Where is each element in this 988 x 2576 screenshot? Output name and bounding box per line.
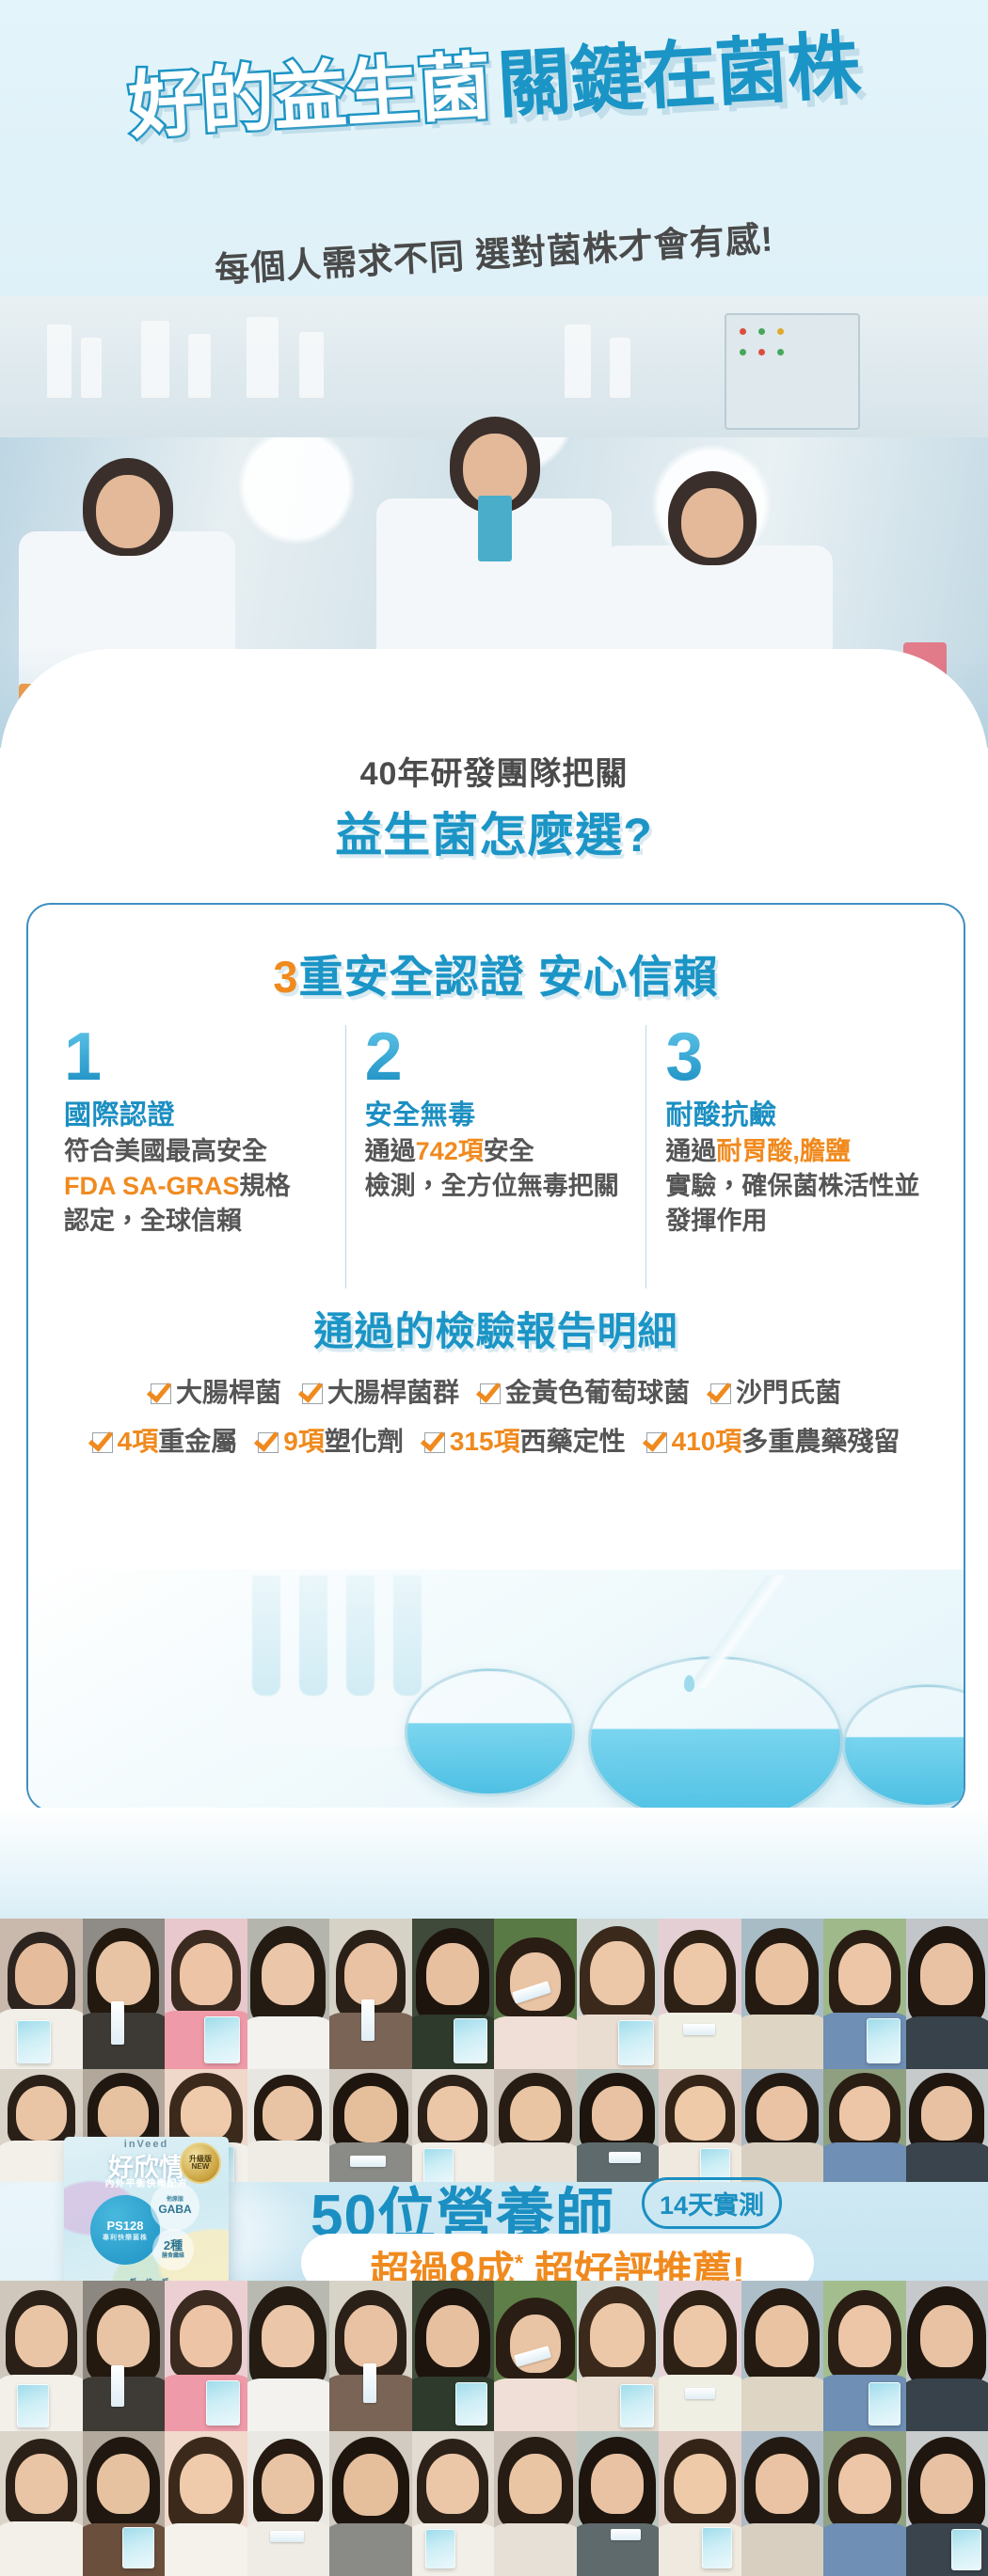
testimonial-photo-row bbox=[0, 2431, 988, 2576]
checklist-label: 金黃色葡萄球菌 bbox=[505, 1377, 690, 1409]
checklist-item: 4項重金屬 bbox=[92, 1426, 238, 1458]
checklist-row: 4項重金屬 9項塑化劑 315項西藥定性 410項多重農藥殘留 bbox=[28, 1426, 964, 1458]
bubble-main: GABA bbox=[158, 2204, 191, 2217]
column-body: 符合美國最高安全 FDA SA-GRAS規格 認定，全球信賴 bbox=[64, 1134, 332, 1238]
testimonial-photo bbox=[0, 2431, 83, 2576]
checklist-item: 大腸桿菌群 bbox=[302, 1377, 459, 1409]
column-number: 2 bbox=[365, 1025, 633, 1089]
section-kicker: 40年研發團隊把關 bbox=[0, 748, 988, 794]
section-title: 益生菌怎麼選? bbox=[0, 798, 988, 865]
checklist-label: 沙門氏菌 bbox=[736, 1377, 841, 1409]
testimonial-photo bbox=[247, 2281, 330, 2431]
certification-column-2: 2 安全無毒 通過742項安全 檢測，全方位無毒把關 bbox=[345, 1025, 646, 1288]
certification-columns: 1 國際認證 符合美國最高安全 FDA SA-GRAS規格 認定，全球信賴 2 … bbox=[45, 1025, 947, 1288]
certification-card: 3重安全認證 安心信賴 1 國際認證 符合美國最高安全 FDA SA-GRAS規… bbox=[26, 903, 965, 1811]
testimonial-photo bbox=[494, 2281, 577, 2431]
column-title: 耐酸抗鹼 bbox=[665, 1093, 933, 1132]
check-icon bbox=[646, 1432, 667, 1453]
testimonial-photo bbox=[412, 2281, 495, 2431]
checklist-label: 大腸桿菌群 bbox=[327, 1377, 459, 1409]
testimonial-photo bbox=[823, 2069, 906, 2182]
column-number: 3 bbox=[665, 1025, 933, 1089]
testimonial-photo bbox=[165, 1919, 247, 2069]
checklist-item: 沙門氏菌 bbox=[710, 1377, 841, 1409]
checklist-item: 315項西藥定性 bbox=[424, 1426, 626, 1458]
testimonial-photo bbox=[165, 2281, 247, 2431]
hero-title-part-blue: 關鍵在菌株 bbox=[496, 24, 862, 126]
14-day-pill: 14天實測 bbox=[642, 2177, 782, 2229]
column-body-post: 檢測，全方位無毒把關 bbox=[365, 1172, 619, 1200]
checklist-label: 315項西藥定性 bbox=[450, 1426, 626, 1458]
column-body-highlight: FDA SA-GRAS bbox=[64, 1172, 240, 1200]
testimonial-photo bbox=[741, 1919, 824, 2069]
check-icon bbox=[710, 1383, 731, 1404]
testimonial-photo-row bbox=[0, 2281, 988, 2431]
badge-line-2: NEW bbox=[192, 2163, 210, 2171]
testimonial-photo bbox=[0, 2281, 83, 2431]
testimonial-photo bbox=[494, 1919, 577, 2069]
testimonial-photo bbox=[659, 2069, 741, 2182]
strain-name: PS128 bbox=[106, 2219, 143, 2233]
column-body-highlight: 742項 bbox=[416, 1137, 484, 1165]
checklist-label: 大腸桿菌 bbox=[176, 1377, 281, 1409]
column-number: 1 bbox=[64, 1025, 332, 1089]
column-body: 通過耐胃酸,膽鹽 實驗，確保菌株活性並發揮作用 bbox=[665, 1134, 933, 1238]
landing-page: 好的益生菌關鍵在菌株 每個人需求不同 選對菌株才會有感! bbox=[0, 0, 988, 2576]
card-heading-number: 3 bbox=[273, 952, 298, 1002]
column-body-mid: 安全 bbox=[484, 1137, 534, 1165]
hero-subtitle: 每個人需求不同 選對菌株才會有感! bbox=[0, 198, 988, 305]
testimonial-photo bbox=[823, 1919, 906, 2069]
checklist-item: 9項塑化劑 bbox=[258, 1426, 404, 1458]
hero-section: 好的益生菌關鍵在菌株 每個人需求不同 選對菌株才會有感! bbox=[0, 0, 988, 310]
testimonial-photo bbox=[329, 1919, 412, 2069]
testimonial-photo bbox=[494, 2431, 577, 2576]
testimonial-photo bbox=[577, 1919, 660, 2069]
petri-dish-small bbox=[405, 1668, 575, 1796]
testimonial-photo bbox=[247, 2431, 330, 2576]
testimonial-photo bbox=[659, 2281, 741, 2431]
testimonial-photo bbox=[412, 1919, 495, 2069]
claim-star: * bbox=[515, 2251, 523, 2276]
hero-title: 好的益生菌關鍵在菌株 bbox=[0, 22, 988, 150]
check-icon bbox=[480, 1383, 501, 1404]
check-icon bbox=[92, 1432, 113, 1453]
ingredient-bubble-fiber: 2種 膳食纖維 bbox=[152, 2229, 194, 2270]
section-divider bbox=[0, 1808, 988, 1919]
pipette-icon bbox=[677, 1575, 796, 1688]
checklist-item: 金黃色葡萄球菌 bbox=[480, 1377, 690, 1409]
checklist-label: 4項重金屬 bbox=[118, 1426, 238, 1458]
checklist-label: 410項多重農藥殘留 bbox=[672, 1426, 900, 1458]
certification-column-3: 3 耐酸抗鹼 通過耐胃酸,膽鹽 實驗，確保菌株活性並發揮作用 bbox=[645, 1025, 947, 1288]
check-icon bbox=[424, 1432, 445, 1453]
testimonial-photo bbox=[83, 2431, 166, 2576]
check-icon bbox=[258, 1432, 279, 1453]
testimonial-photo bbox=[412, 2431, 495, 2576]
column-body: 通過742項安全 檢測，全方位無毒把關 bbox=[365, 1134, 633, 1203]
column-body-highlight: 耐胃酸,膽鹽 bbox=[716, 1137, 851, 1165]
droplet-icon bbox=[684, 1675, 694, 1692]
check-icon bbox=[151, 1383, 171, 1404]
testimonial-photo bbox=[165, 2431, 247, 2576]
petri-dish-photo bbox=[28, 1570, 964, 1810]
column-title: 國際認證 bbox=[64, 1093, 332, 1132]
testimonial-photo bbox=[659, 2431, 741, 2576]
column-body-pre: 通過 bbox=[365, 1137, 416, 1165]
strain-sub: 專利快樂菌株 bbox=[103, 2233, 148, 2242]
testimonial-photo-row bbox=[0, 1919, 988, 2069]
column-body-pre: 符合美國最高安全 bbox=[64, 1137, 267, 1165]
testimonial-photo bbox=[247, 2069, 330, 2182]
hero-title-part-white: 好的益生菌 bbox=[126, 44, 492, 147]
testimonial-photo bbox=[823, 2281, 906, 2431]
testimonial-photo bbox=[329, 2281, 412, 2431]
testimonial-photo bbox=[906, 1919, 988, 2069]
testimonial-photo bbox=[577, 2431, 660, 2576]
testimonial-photo bbox=[741, 2281, 824, 2431]
testimonial-photo bbox=[83, 1919, 166, 2069]
testimonial-photo bbox=[906, 2431, 988, 2576]
testimonial-photo bbox=[741, 2431, 824, 2576]
testimonial-photo bbox=[329, 2069, 412, 2182]
column-body-mid: 規格 bbox=[240, 1172, 291, 1200]
ingredient-bubble-gaba: 他原版 GABA bbox=[151, 2182, 199, 2231]
checklist-row: 大腸桿菌 大腸桿菌群 金黃色葡萄球菌 沙門氏菌 bbox=[28, 1377, 964, 1409]
testimonial-photo bbox=[741, 2069, 824, 2182]
testimonial-photo bbox=[823, 2431, 906, 2576]
testimonial-photo bbox=[412, 2069, 495, 2182]
testimonial-photo bbox=[494, 2069, 577, 2182]
testimonial-photo bbox=[0, 1919, 83, 2069]
testimonial-photo bbox=[577, 2281, 660, 2431]
testimonial-photo bbox=[83, 2281, 166, 2431]
check-icon bbox=[302, 1383, 323, 1404]
strain-circle: PS128 專利快樂菌株 bbox=[90, 2195, 160, 2265]
testimonial-photo bbox=[577, 2069, 660, 2182]
certification-column-1: 1 國際認證 符合美國最高安全 FDA SA-GRAS規格 認定，全球信賴 bbox=[45, 1025, 345, 1288]
column-body-pre: 通過 bbox=[665, 1137, 716, 1165]
testimonial-photo bbox=[906, 2069, 988, 2182]
card-heading-text: 重安全認證 安心信賴 bbox=[299, 952, 719, 1002]
testimonial-photo bbox=[329, 2431, 412, 2576]
testimonial-photo bbox=[247, 1919, 330, 2069]
checklist: 大腸桿菌 大腸桿菌群 金黃色葡萄球菌 沙門氏菌 4項重金屬 bbox=[28, 1377, 964, 1474]
petri-dish-right bbox=[842, 1684, 964, 1808]
new-version-badge: 升級版 NEW bbox=[180, 2142, 221, 2184]
column-title: 安全無毒 bbox=[365, 1093, 633, 1132]
column-body-post: 認定，全球信賴 bbox=[64, 1207, 242, 1235]
checklist-item: 410項多重農藥殘留 bbox=[646, 1426, 900, 1458]
testimonial-photo bbox=[659, 1919, 741, 2069]
column-body-post: 實驗，確保菌株活性並發揮作用 bbox=[665, 1172, 919, 1235]
checklist-item: 大腸桿菌 bbox=[151, 1377, 281, 1409]
checklist-label: 9項塑化劑 bbox=[283, 1426, 404, 1458]
report-heading: 通過的檢驗報告明細 bbox=[28, 1300, 964, 1357]
bubble-main: 2種 bbox=[164, 2239, 183, 2253]
card-heading: 3重安全認證 安心信賴 bbox=[28, 940, 964, 1005]
testimonial-photo bbox=[906, 2281, 988, 2431]
bubble-sub: 膳食纖維 bbox=[162, 2253, 184, 2260]
